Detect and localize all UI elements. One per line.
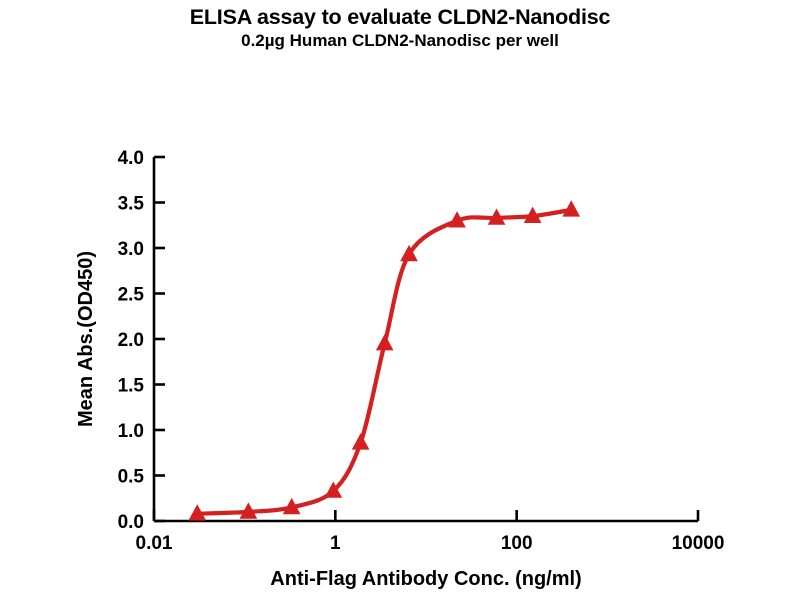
y-tick-label: 3.0 xyxy=(118,239,144,260)
chart-figure: ELISA assay to evaluate CLDN2-Nanodisc 0… xyxy=(0,0,800,600)
x-axis-ticks: 0.01110010000 xyxy=(136,510,725,554)
y-tick-label: 0.0 xyxy=(118,512,144,533)
y-tick-label: 1.0 xyxy=(118,421,144,442)
x-tick-label: 100 xyxy=(501,533,533,554)
y-axis-ticks: 0.00.51.01.52.02.53.03.54.0 xyxy=(118,148,165,533)
x-tick-label: 10000 xyxy=(672,533,725,554)
plot-area: 0.00.51.01.52.02.53.03.54.0 0.0111001000… xyxy=(0,0,800,600)
y-tick-label: 0.5 xyxy=(118,467,145,488)
data-point-marker xyxy=(562,200,580,216)
y-tick-label: 4.0 xyxy=(118,148,144,169)
data-series-group xyxy=(188,200,580,520)
y-axis-title: Mean Abs.(OD450) xyxy=(75,251,97,427)
series-line xyxy=(197,210,571,514)
y-tick-label: 2.5 xyxy=(118,285,145,306)
y-tick-label: 3.5 xyxy=(118,194,145,215)
data-point-marker xyxy=(376,334,394,350)
axes-group xyxy=(154,157,698,521)
x-axis-title: Anti-Flag Antibody Conc. (ng/ml) xyxy=(270,568,581,590)
y-tick-label: 2.0 xyxy=(118,330,144,351)
series-markers xyxy=(188,200,580,520)
y-tick-label: 1.5 xyxy=(118,376,145,397)
data-point-marker xyxy=(352,433,370,449)
x-tick-label: 0.01 xyxy=(136,533,173,554)
x-tick-label: 1 xyxy=(330,533,341,554)
